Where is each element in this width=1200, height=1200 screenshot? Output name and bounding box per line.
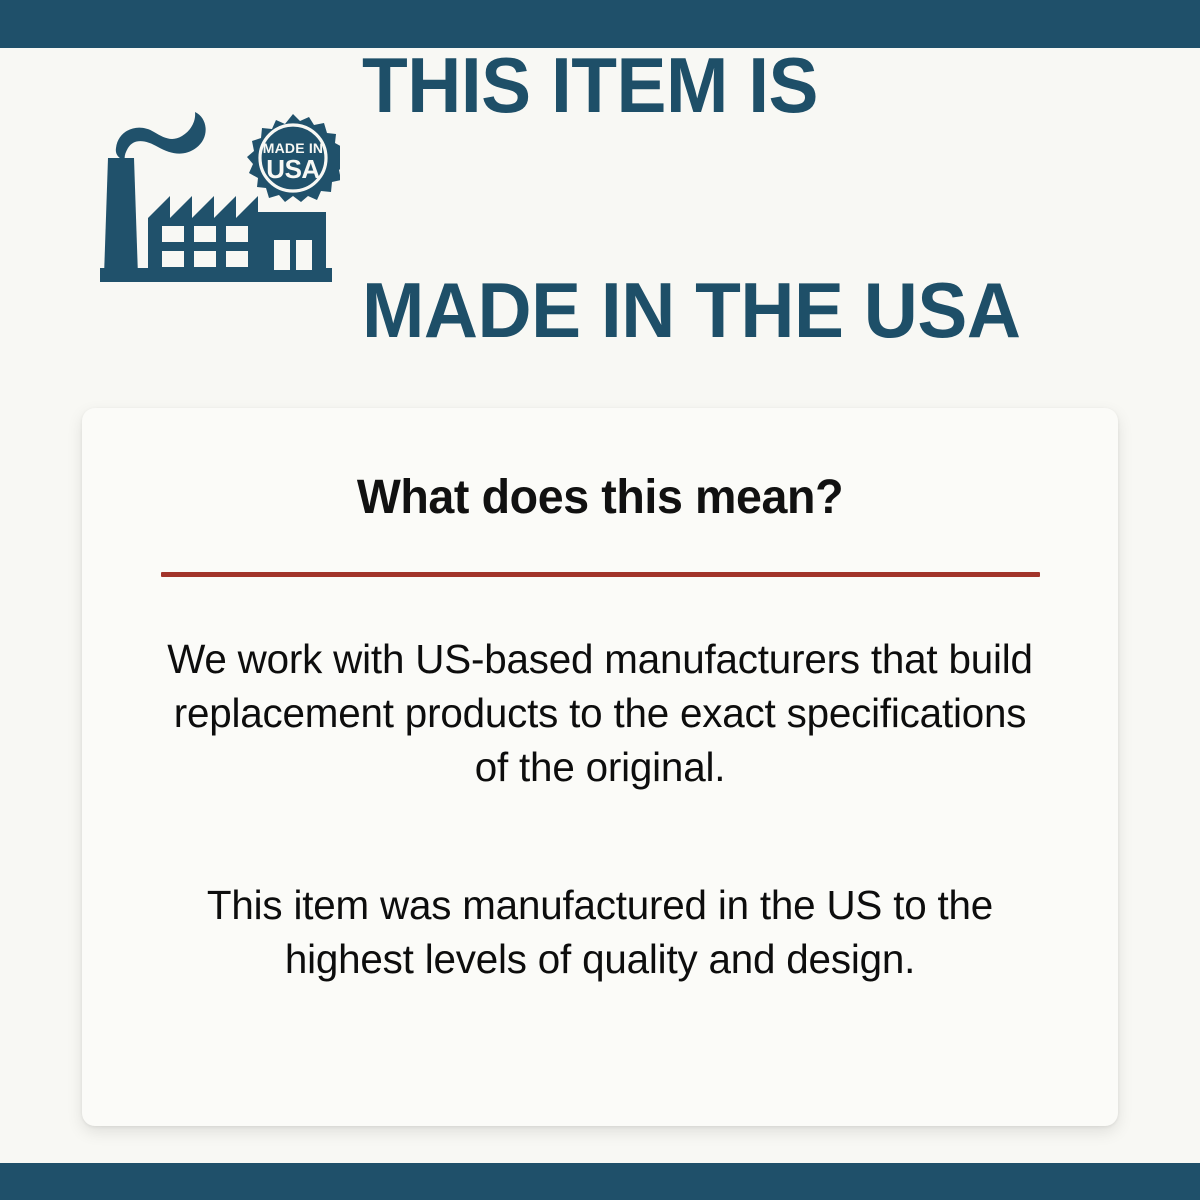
factory-icon: MADE IN USA [100, 108, 340, 288]
headline-line-1: THIS ITEM IS [362, 48, 1128, 123]
card-paragraph-2: This item was manufactured in the US to … [167, 794, 1034, 986]
headline-line-2: MADE IN THE USA [362, 273, 1128, 348]
explanation-card: What does this mean? We work with US-bas… [82, 408, 1118, 1126]
page-canvas: MADE IN USA THIS ITEM IS MADE IN THE USA… [0, 48, 1200, 1163]
made-in-usa-badge-icon: MADE IN USA [241, 109, 340, 208]
badge-line-2: USA [266, 154, 320, 184]
card-paragraph-1: We work with US-based manufacturers that… [167, 577, 1034, 794]
factory-logo: MADE IN USA [100, 108, 340, 288]
bottom-accent-band [0, 1163, 1200, 1200]
card-title: What does this mean? [98, 408, 1103, 525]
header: MADE IN USA THIS ITEM IS MADE IN THE USA [100, 98, 1160, 298]
